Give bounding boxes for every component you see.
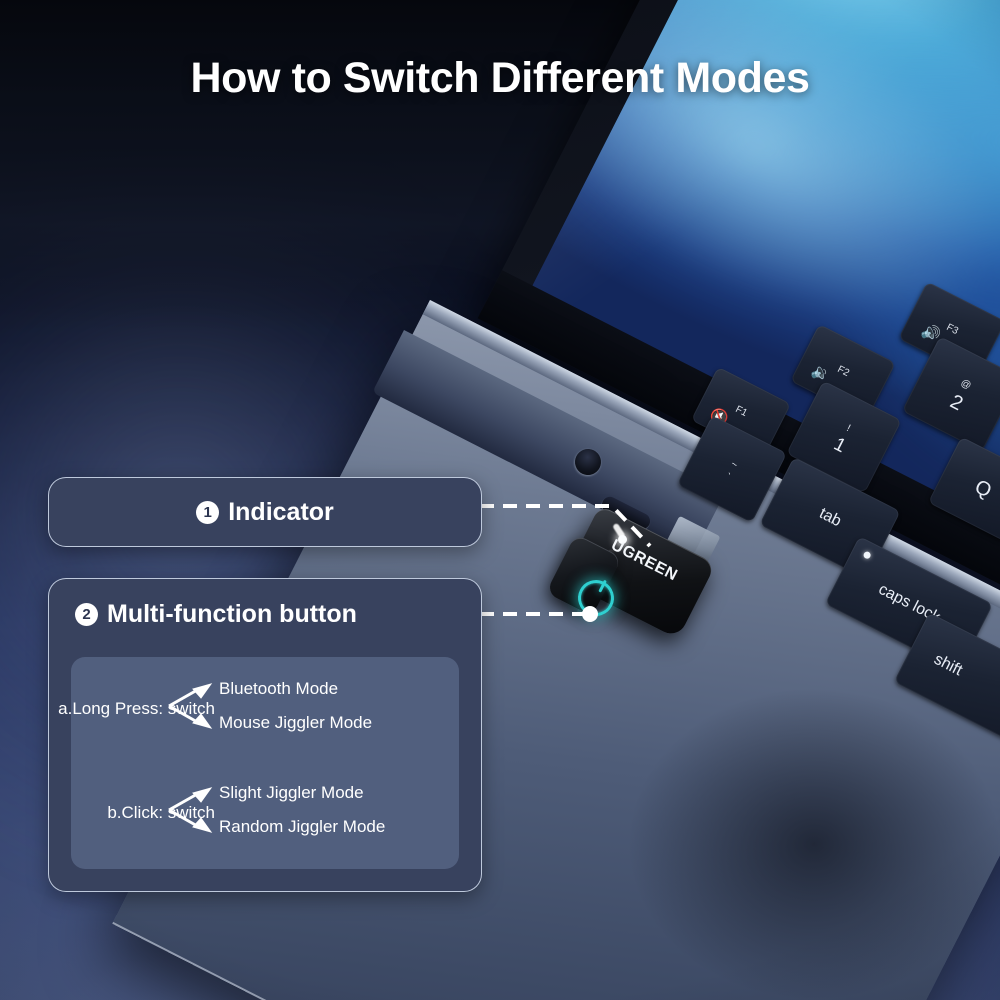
product-infographic: F1 🔇 F2 🔉 F3 🔊 ~ ` ! 1: [0, 0, 1000, 1000]
usb-dongle-device: UGREEN: [556, 524, 721, 649]
page-title: How to Switch Different Modes: [0, 54, 1000, 103]
branch-arrows-long-press: [165, 679, 217, 733]
key-one-top-label: !: [844, 424, 851, 435]
key-one-label: 1: [830, 435, 848, 458]
callout-multi-function-label: Multi-function button: [107, 600, 357, 629]
rule-click-option-1: Slight Jiggler Mode: [219, 783, 364, 803]
mode-instructions-panel: a.Long Press: switch Bluetooth Mode Mous…: [71, 657, 459, 869]
rule-long-press-option-2: Mouse Jiggler Mode: [219, 713, 372, 733]
volume-down-icon: 🔉: [809, 363, 833, 386]
callout-indicator-label: Indicator: [228, 498, 334, 527]
key-tilde-top-label: ~: [729, 460, 739, 472]
callout-multi-function-button: 2 Multi-function button a.Long Press: sw…: [48, 578, 482, 892]
callout-multi-function-header: 2 Multi-function button: [49, 579, 481, 649]
rule-click-option-2: Random Jiggler Mode: [219, 817, 385, 837]
callout-number-badge-1: 1: [196, 501, 219, 524]
key-two-top-label: @: [958, 379, 972, 393]
callout-indicator-header: 1 Indicator: [49, 478, 481, 546]
callout-indicator: 1 Indicator: [48, 477, 482, 547]
rule-long-press-option-1: Bluetooth Mode: [219, 679, 338, 699]
callout-number-badge-2: 2: [75, 603, 98, 626]
branch-arrows-click: [165, 783, 217, 837]
key-two-label: 2: [947, 391, 966, 415]
